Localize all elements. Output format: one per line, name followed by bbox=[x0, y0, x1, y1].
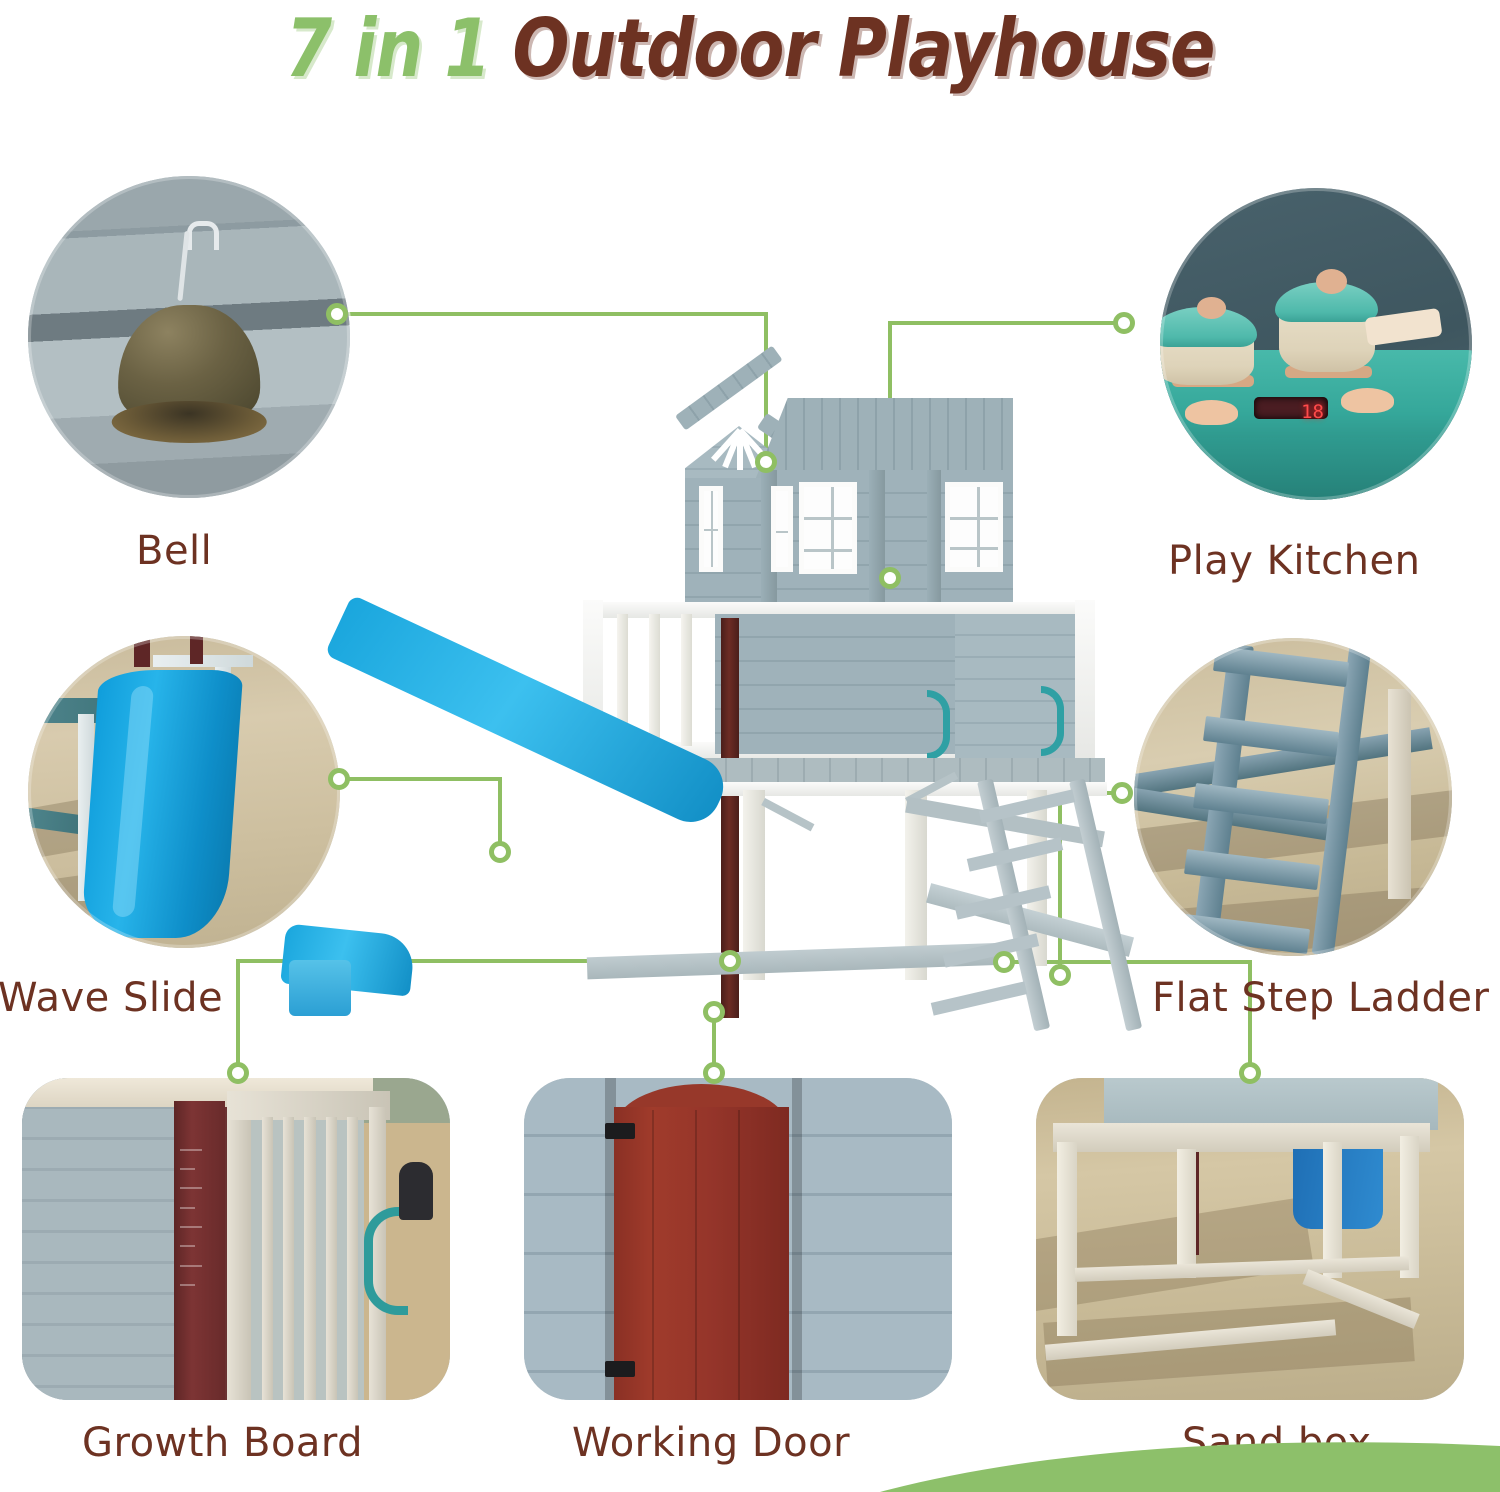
growth-board-hint2 bbox=[190, 636, 202, 664]
connector-dot-slide-circle bbox=[328, 768, 350, 790]
door-hinge-top bbox=[605, 1123, 635, 1139]
connector-dot-door-image bbox=[703, 1062, 725, 1084]
ground-shadow-1 bbox=[28, 782, 187, 864]
window-front-left bbox=[771, 486, 793, 572]
window-mullion bbox=[950, 547, 998, 550]
burner-left bbox=[1172, 375, 1253, 387]
bell-hook-icon bbox=[187, 221, 219, 250]
connector-dot-sand-image bbox=[1239, 1062, 1261, 1084]
ladder-rail-left bbox=[1191, 644, 1254, 956]
railing-top bbox=[153, 655, 253, 667]
product-illustration-playhouse bbox=[575, 390, 1115, 1040]
railing-baluster bbox=[283, 1117, 294, 1400]
window-mullion bbox=[776, 531, 788, 533]
growth-board-photo bbox=[22, 1078, 450, 1400]
bell-lip bbox=[112, 401, 267, 443]
bottom-green-curve bbox=[0, 1402, 1500, 1492]
wall-corner-shadow-2 bbox=[792, 1078, 803, 1400]
door-plank-line bbox=[695, 1110, 697, 1400]
connector-dot-growth-product bbox=[719, 950, 741, 972]
title-brown-text: Outdoor Playhouse bbox=[513, 2, 1215, 95]
balcony-baluster bbox=[649, 614, 660, 746]
connector-dot-sand-product bbox=[993, 951, 1015, 973]
connector-dot-kitchen-circle bbox=[1113, 312, 1135, 334]
pot-knob-left bbox=[1197, 297, 1225, 319]
railing-baluster bbox=[347, 1117, 358, 1400]
ladder-rail-right bbox=[1312, 638, 1373, 956]
balcony-baluster bbox=[681, 614, 692, 746]
wave-slide-exit-panel bbox=[289, 960, 351, 1016]
platform-underside bbox=[1104, 1078, 1438, 1130]
deck-floor bbox=[675, 758, 1105, 784]
door-plank-line bbox=[738, 1110, 740, 1400]
slide-highlight bbox=[111, 686, 153, 917]
platform-beam-low bbox=[28, 806, 85, 834]
window-mullion bbox=[704, 529, 718, 531]
window-left-side bbox=[699, 486, 723, 572]
cabin-divider-post-2 bbox=[927, 470, 941, 614]
play-kitchen-photo: 18 bbox=[1160, 188, 1472, 500]
growth-board-hint bbox=[134, 636, 150, 667]
support-post-right bbox=[215, 661, 231, 770]
support-post-left bbox=[78, 714, 94, 901]
feature-label-flat-step-ladder: Flat Step Ladder bbox=[1152, 975, 1489, 1021]
bell-hook-wire bbox=[177, 231, 189, 301]
sandbox-post-mid bbox=[1177, 1149, 1196, 1278]
corner-post bbox=[227, 1091, 251, 1400]
growth-tick bbox=[180, 1187, 201, 1189]
wave-slide bbox=[324, 595, 733, 832]
feature-image-play-kitchen: 18 bbox=[1160, 188, 1472, 500]
title-green-text: 7 in 1 bbox=[285, 2, 512, 95]
bell-photo bbox=[28, 176, 350, 498]
working-door-photo bbox=[524, 1078, 952, 1400]
sandbox-frame-beam2 bbox=[1134, 786, 1344, 844]
ladder-step-1 bbox=[1212, 646, 1348, 688]
cabin-divider-post bbox=[869, 470, 885, 614]
stove-knob-left bbox=[1185, 400, 1238, 425]
page-title: 7 in 1 Outdoor Playhouse bbox=[53, 2, 1448, 95]
platform-beam-left bbox=[28, 698, 122, 723]
railing-top-rail bbox=[227, 1091, 390, 1120]
connector-dot-kitchen-product bbox=[879, 567, 901, 589]
stove-top bbox=[1160, 350, 1472, 456]
ladder-step-3 bbox=[1193, 783, 1329, 825]
sandbox-post-left bbox=[1057, 1142, 1076, 1335]
feature-image-wave-slide bbox=[28, 636, 340, 948]
pot-lid-left bbox=[1160, 307, 1257, 348]
door-panel bbox=[614, 1107, 789, 1400]
window-mullion bbox=[804, 549, 852, 552]
person-on-chair bbox=[399, 1162, 433, 1220]
sand-shadow bbox=[1036, 1197, 1314, 1314]
connector-dot-bell-product bbox=[755, 451, 777, 473]
window-mullion bbox=[950, 517, 998, 520]
pot-lid-right bbox=[1275, 282, 1378, 323]
window-mullion bbox=[804, 517, 852, 520]
wall-siding bbox=[22, 1078, 193, 1400]
ground-shadow-2 bbox=[28, 861, 186, 925]
feature-label-bell: Bell bbox=[136, 528, 212, 574]
connector-dot-ladder-circle bbox=[1111, 782, 1133, 804]
pot-knob-right bbox=[1316, 269, 1347, 294]
connector-dot-slide-product bbox=[489, 841, 511, 863]
slide-surface bbox=[81, 670, 243, 938]
sandbox-corner-post bbox=[1388, 689, 1410, 899]
feature-image-growth-board bbox=[22, 1078, 450, 1400]
stove-display: 18 bbox=[1254, 397, 1329, 419]
stove-display-value: 18 bbox=[1301, 401, 1324, 423]
teal-grab-handle bbox=[364, 1207, 407, 1315]
window-front-right bbox=[945, 482, 1003, 572]
growth-tick bbox=[180, 1245, 195, 1247]
feature-label-play-kitchen: Play Kitchen bbox=[1168, 538, 1420, 584]
feature-image-bell bbox=[28, 176, 350, 498]
growth-measure-board bbox=[174, 1101, 225, 1400]
connector-dot-growth-image bbox=[227, 1062, 249, 1084]
railing-baluster bbox=[304, 1117, 315, 1400]
growth-tick bbox=[180, 1149, 201, 1151]
growth-tick bbox=[180, 1168, 195, 1170]
growth-tick bbox=[180, 1226, 201, 1228]
connector-dot-bell-circle bbox=[326, 303, 348, 325]
growth-tick bbox=[180, 1207, 195, 1209]
platform-skirt-beam bbox=[1053, 1123, 1430, 1152]
connector-dot-door-product bbox=[703, 1001, 725, 1023]
sandbox-post-right bbox=[1323, 1142, 1342, 1277]
stove-knob-right bbox=[1341, 388, 1394, 413]
feature-image-flat-step-ladder bbox=[1134, 638, 1452, 956]
window-mullion bbox=[831, 487, 834, 569]
wave-slide-photo bbox=[28, 636, 340, 948]
feature-image-working-door bbox=[524, 1078, 952, 1400]
bell-body bbox=[118, 305, 260, 414]
ladder-step-4 bbox=[1184, 849, 1320, 891]
feature-label-wave-slide: Wave Slide bbox=[0, 975, 223, 1021]
sandbox-frame-beam bbox=[1134, 728, 1433, 800]
growth-tick bbox=[180, 1284, 195, 1286]
burner-right bbox=[1285, 366, 1372, 378]
diagonal-brace bbox=[761, 798, 814, 831]
feature-image-sand-box bbox=[1036, 1078, 1464, 1400]
window-front-center bbox=[799, 482, 857, 574]
railing-baluster bbox=[262, 1117, 273, 1400]
balcony-post-right bbox=[1075, 600, 1095, 764]
flat-step-ladder-photo bbox=[1134, 638, 1452, 956]
growth-tick bbox=[180, 1265, 201, 1267]
sand-shadow-band bbox=[1134, 787, 1452, 878]
window-mullion bbox=[977, 487, 980, 567]
door-plank-line bbox=[652, 1110, 654, 1400]
door-hinge-bottom bbox=[605, 1361, 635, 1377]
ladder-step-2 bbox=[1203, 716, 1339, 758]
sand-box-photo bbox=[1036, 1078, 1464, 1400]
railing-baluster bbox=[326, 1117, 337, 1400]
stove-base bbox=[1160, 438, 1472, 500]
pan-handle bbox=[1364, 308, 1442, 346]
pot-right bbox=[1279, 300, 1376, 372]
connector-dot-ladder-product bbox=[1049, 964, 1071, 986]
step-ladder bbox=[973, 782, 1113, 1040]
pot-left bbox=[1160, 325, 1254, 384]
